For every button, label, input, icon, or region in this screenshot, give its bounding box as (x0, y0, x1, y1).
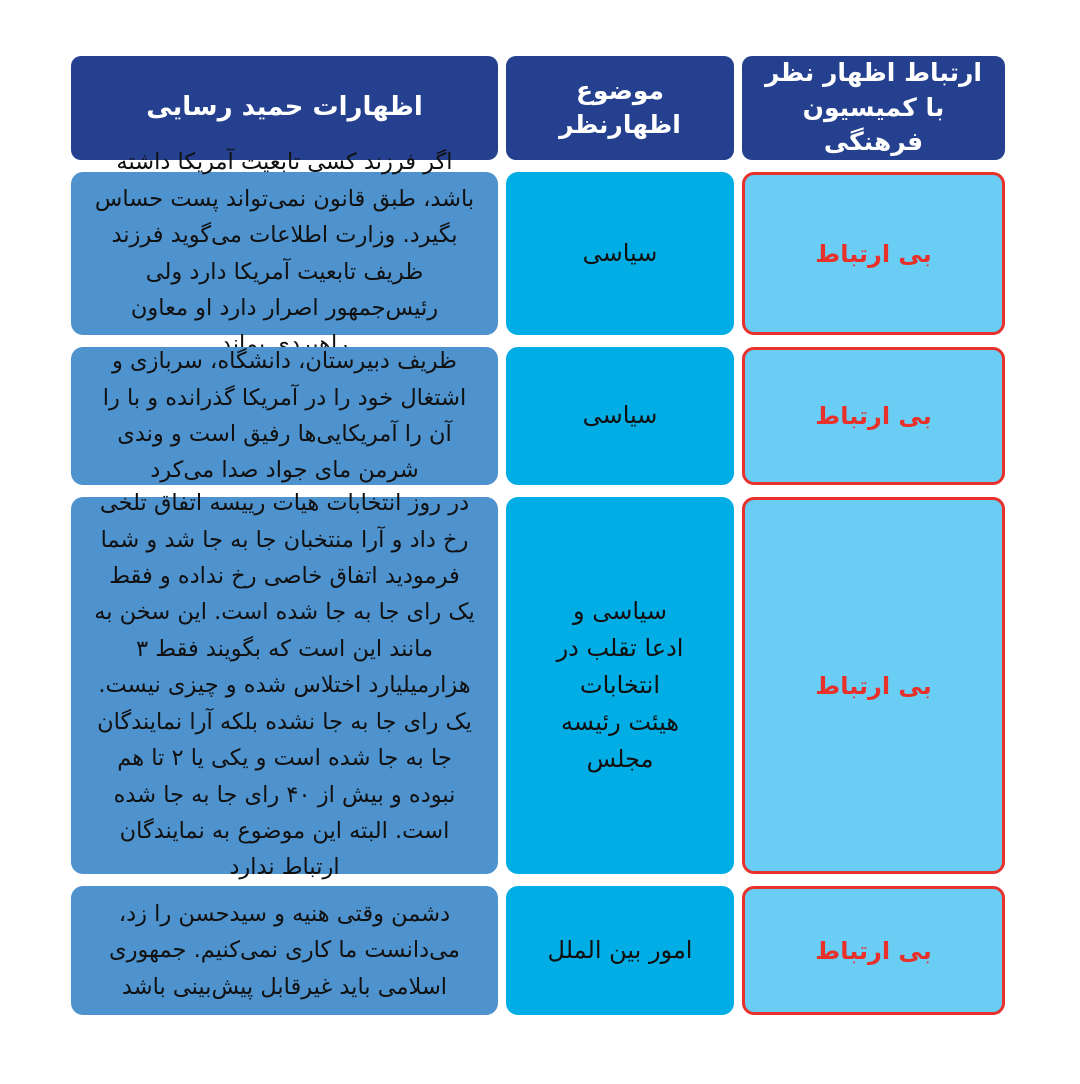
quote-text: ظریف دبیرستان، دانشگاه، سربازی و اشتغال … (93, 343, 476, 489)
table-row: اگر فرزند کسی تابعیت آمریکا داشته باشد، … (71, 172, 498, 335)
table-row: در روز انتخابات هیات رییسه اتفاق تلخی رخ… (71, 497, 498, 874)
comparison-table: ارتباط اظهار نظر با کمیسیون فرهنگی موضوع… (72, 56, 1005, 1015)
table-row: سیاسی (506, 172, 734, 335)
table-row: امور بین الملل (506, 886, 734, 1015)
quote-text: دشمن وقتی هنیه و سیدحسن را زد، می‌دانست … (93, 896, 476, 1005)
table-row: ظریف دبیرستان، دانشگاه، سربازی و اشتغال … (71, 347, 498, 485)
quote-text: اگر فرزند کسی تابعیت آمریکا داشته باشد، … (93, 144, 476, 363)
table-row: بی ارتباط (742, 886, 1005, 1015)
table-header-relation: ارتباط اظهار نظر با کمیسیون فرهنگی (742, 56, 1005, 160)
table-row: دشمن وقتی هنیه و سیدحسن را زد، می‌دانست … (71, 886, 498, 1015)
quote-text: در روز انتخابات هیات رییسه اتفاق تلخی رخ… (93, 485, 476, 886)
infographic-root: ارتباط اظهار نظر با کمیسیون فرهنگی موضوع… (0, 0, 1080, 1084)
table-header-topic: موضوع اظهارنظر (506, 56, 734, 160)
table-row: بی ارتباط (742, 497, 1005, 874)
table-row: بی ارتباط (742, 347, 1005, 485)
table-row: بی ارتباط (742, 172, 1005, 335)
table-row: سیاسی (506, 347, 734, 485)
table-row: سیاسی و ادعا تقلب در انتخابات هیئت رئیسه… (506, 497, 734, 874)
